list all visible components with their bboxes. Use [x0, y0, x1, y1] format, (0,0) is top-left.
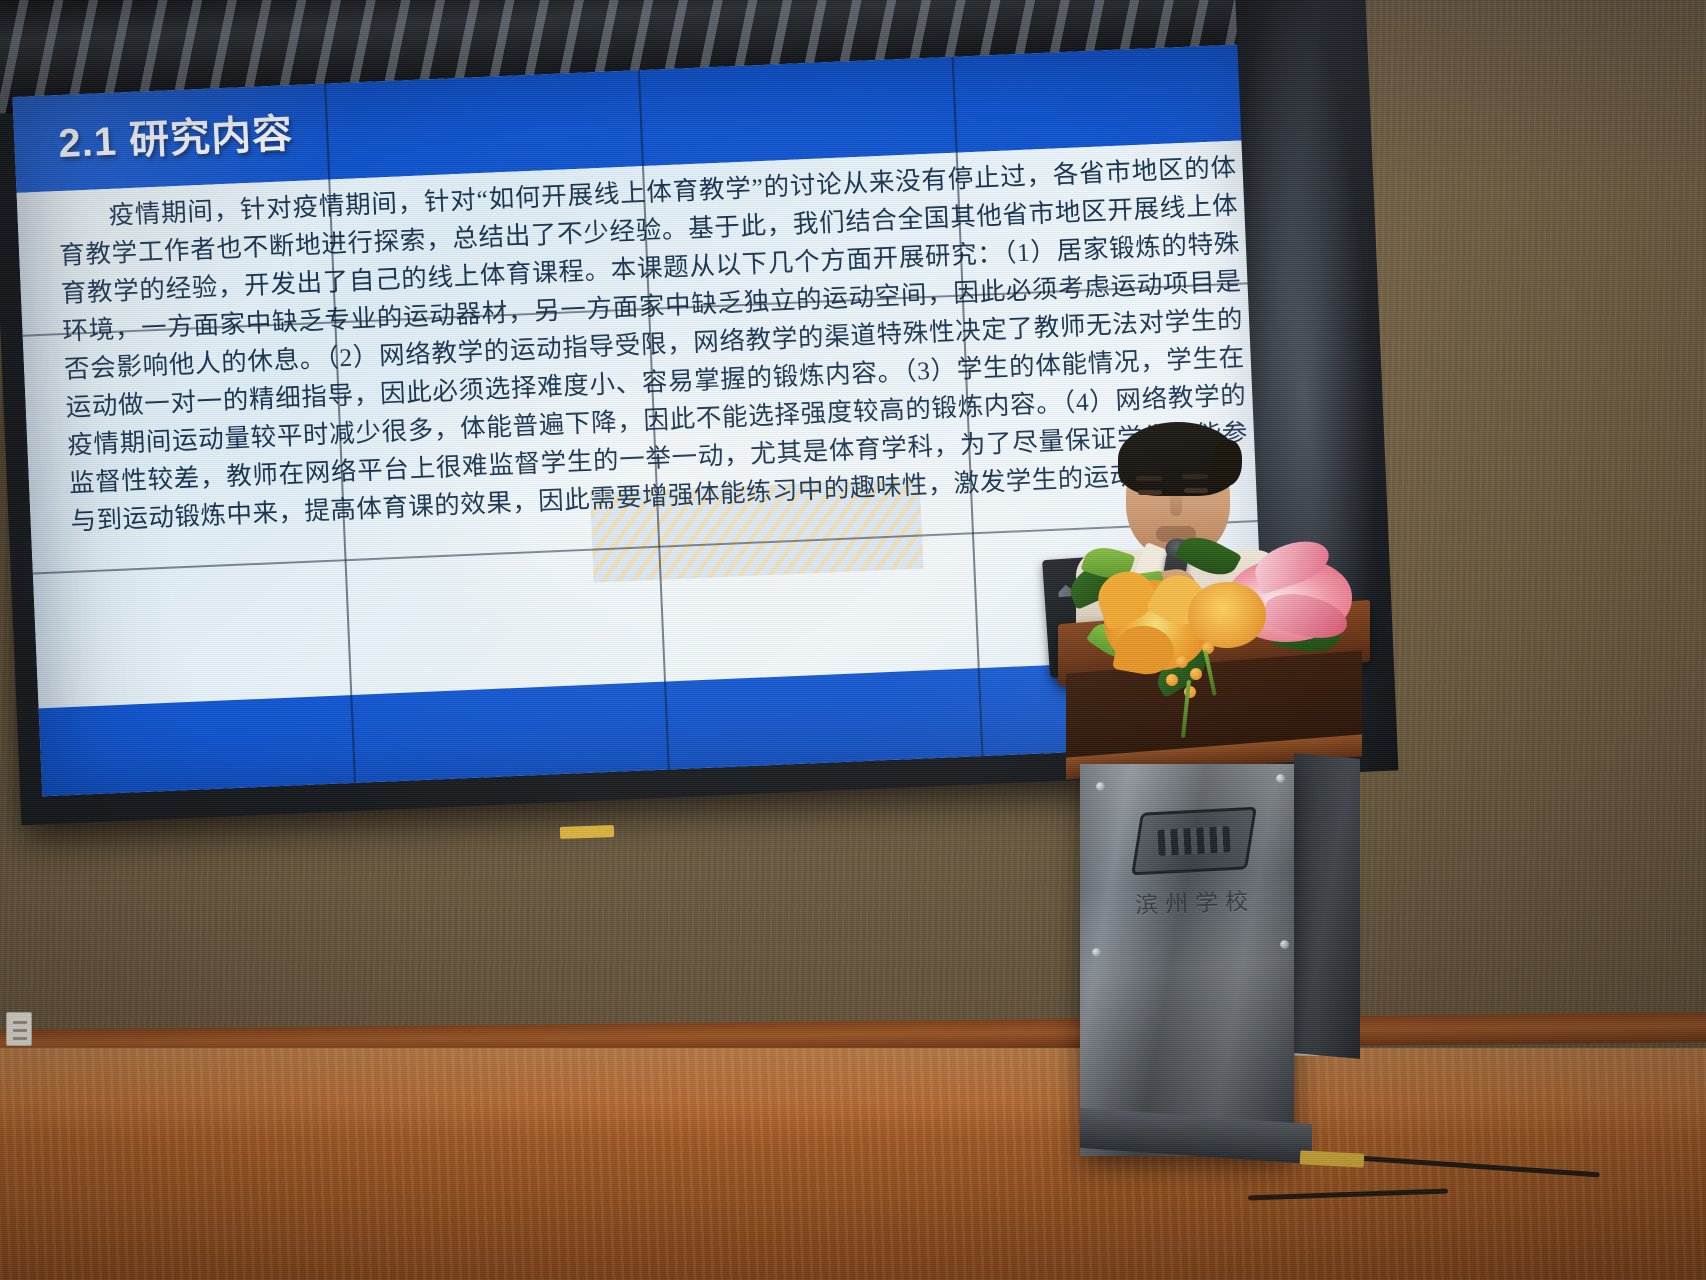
presenter-brow-right	[1182, 474, 1208, 479]
wall-outlet-left	[6, 1012, 32, 1046]
podium-screw-lower-right	[1280, 940, 1289, 949]
podium-screw-right	[1276, 774, 1285, 783]
berry	[1190, 668, 1202, 680]
podium-screw-left	[1096, 782, 1105, 791]
orange-cluster	[1188, 582, 1266, 648]
presenter-brow-left	[1136, 476, 1162, 481]
emblem-glyph	[1157, 826, 1230, 856]
presenter-eye-right	[1184, 488, 1208, 493]
slide-title: 2.1 研究内容	[57, 101, 294, 169]
podium-emblem-icon	[1134, 807, 1253, 875]
presenter-eye-left	[1138, 490, 1162, 495]
presenter-nose	[1170, 496, 1182, 516]
floor-tape-marker	[560, 825, 614, 839]
berry	[1166, 674, 1178, 686]
berry	[1176, 656, 1188, 668]
floor-reflection	[0, 1048, 1706, 1138]
vine-stem	[1203, 650, 1216, 696]
presenter-hair	[1118, 422, 1238, 496]
podium-side-face	[1294, 753, 1360, 1059]
podium-engraved-text: 滨州学校	[1099, 881, 1290, 922]
flower-arrangement	[1058, 530, 1358, 720]
presentation-hall-photo: 2.1 研究内容 疫情期间，针对疫情期间，针对“如何开展线上体育教学”的讨论从来…	[0, 0, 1706, 1280]
podium-screw-lower-left	[1092, 948, 1101, 957]
